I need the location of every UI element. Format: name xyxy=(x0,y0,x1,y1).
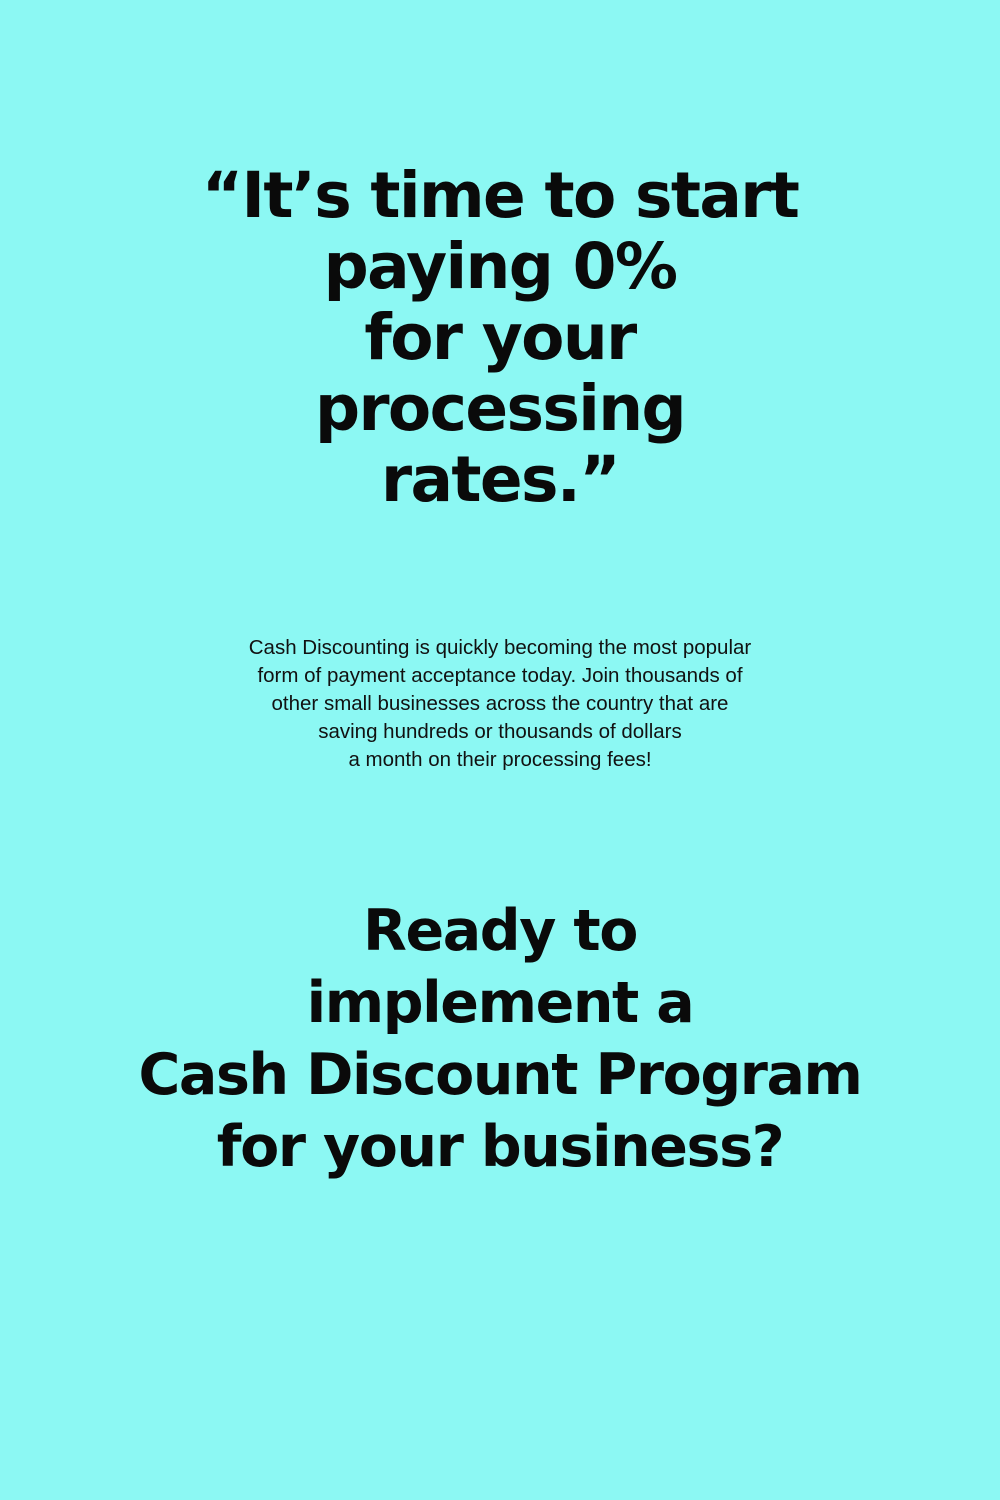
body-line-4: saving hundreds or thousands of dollars xyxy=(0,718,1000,746)
headline-line-3: for your xyxy=(0,302,1000,373)
cta-heading: Ready to implement a Cash Discount Progr… xyxy=(0,895,1000,1183)
cta-line-2: implement a xyxy=(0,967,1000,1039)
body-line-1: Cash Discounting is quickly becoming the… xyxy=(0,634,1000,662)
headline-line-5: rates.” xyxy=(0,444,1000,515)
body-line-3: other small businesses across the countr… xyxy=(0,690,1000,718)
cta-line-1: Ready to xyxy=(0,895,1000,967)
headline-line-4: processing xyxy=(0,373,1000,444)
body-paragraph: Cash Discounting is quickly becoming the… xyxy=(0,634,1000,774)
headline-quote: “It’s time to start paying 0% for your p… xyxy=(0,160,1000,515)
headline-line-1: “It’s time to start xyxy=(0,160,1000,231)
headline-line-2: paying 0% xyxy=(0,231,1000,302)
cta-line-3: Cash Discount Program xyxy=(0,1039,1000,1111)
body-line-2: form of payment acceptance today. Join t… xyxy=(0,662,1000,690)
promo-canvas: “It’s time to start paying 0% for your p… xyxy=(0,0,1000,1500)
cta-line-4: for your business? xyxy=(0,1111,1000,1183)
body-line-5: a month on their processing fees! xyxy=(0,746,1000,774)
